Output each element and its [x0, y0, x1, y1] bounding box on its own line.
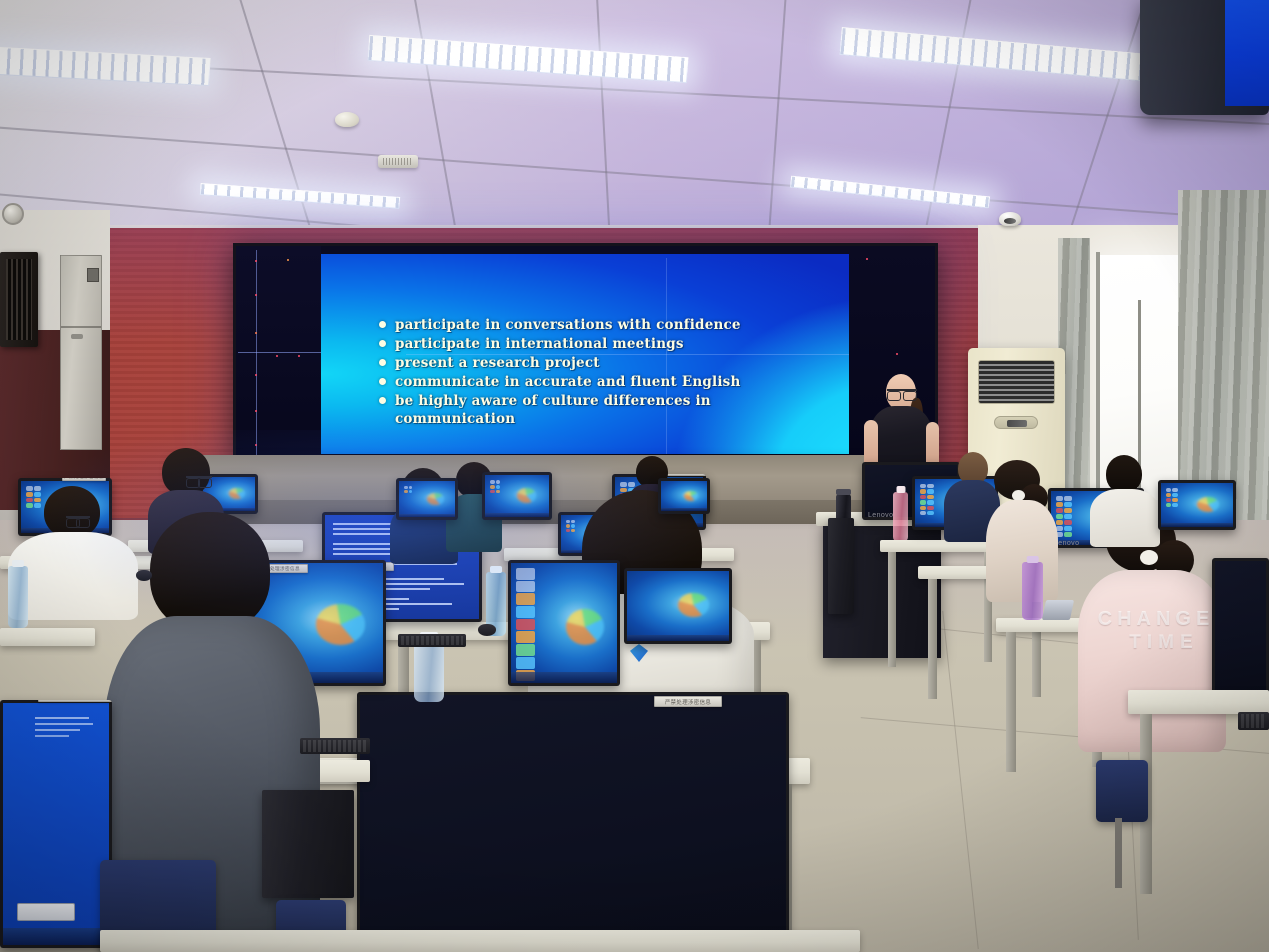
keyboard[interactable]: [1238, 712, 1269, 730]
student-monitor: [658, 478, 710, 514]
security-warning-label: 严禁处理涉密信息: [62, 478, 106, 481]
desk-leg: [928, 579, 937, 699]
student-screen: [1215, 561, 1266, 697]
ceiling-light-fixture: [790, 176, 990, 209]
ceiling-light-fixture: [367, 35, 688, 83]
student-monitor: [1158, 480, 1236, 530]
water-bottle: [1022, 562, 1043, 620]
glasses-icon: [66, 516, 90, 525]
ceiling-speaker: [378, 155, 418, 168]
student-screen: [1161, 483, 1233, 527]
ceiling-light-fixture: [200, 183, 400, 209]
slide-bullet: communicate in accurate and fluent Engli…: [379, 373, 809, 391]
student-far-right: [1090, 455, 1160, 547]
chair[interactable]: [1096, 760, 1148, 822]
curtain: [1178, 190, 1269, 520]
overhead-mounted-display: [1140, 0, 1269, 115]
wall-clock-icon: [2, 203, 24, 225]
security-warning-label: 严禁处理涉密信息: [654, 696, 722, 707]
student-monitor: Lenovo: [1212, 558, 1269, 700]
chair-post: [1115, 818, 1122, 888]
student-screen: [485, 475, 549, 517]
student-screen: [511, 563, 617, 683]
keyboard[interactable]: [398, 634, 466, 647]
led-video-wall: participate in conversations with confid…: [233, 243, 938, 461]
slide-bullet: participate in conversations with confid…: [379, 316, 809, 334]
foreground-screen: [360, 695, 786, 949]
screen-text-block: [35, 717, 103, 741]
desk-leg: [888, 552, 896, 667]
student-screen: [3, 703, 109, 945]
student-screen: [399, 481, 455, 517]
water-bottle: [893, 492, 908, 542]
wall-speaker: [0, 252, 38, 347]
presentation-slide: participate in conversations with confid…: [321, 254, 849, 454]
pc-tower: [262, 790, 354, 898]
mouse[interactable]: [136, 570, 152, 581]
pc-tower: [828, 518, 854, 614]
student-monitor: [482, 472, 552, 520]
slide-bullet: be highly aware of culture differences i…: [379, 392, 809, 428]
security-camera-icon: [999, 212, 1021, 226]
slide-bullet: participate in international meetings: [379, 335, 809, 353]
water-bottle: [8, 566, 28, 628]
student-monitor: [396, 478, 458, 520]
student-change-time: CHANGE TIME: [1078, 512, 1226, 752]
student-head: [150, 512, 270, 632]
desk-leg: [1006, 632, 1016, 772]
student-monitor: 严禁处理涉密信息: [0, 700, 112, 948]
desk: [100, 930, 860, 952]
glasses-icon: [887, 389, 917, 398]
ac-vent: [978, 360, 1055, 404]
desk: [1128, 690, 1269, 714]
scrunchie: [1140, 550, 1158, 565]
taskbar-popup: [17, 903, 75, 921]
slide-bullet-list: participate in conversations with confid…: [379, 316, 809, 429]
student-monitor: [624, 568, 732, 644]
electrical-cabinet: [60, 255, 102, 450]
smoke-detector-icon: [335, 112, 359, 127]
keyboard[interactable]: [300, 738, 370, 754]
water-bottle: [414, 640, 444, 702]
foreground-monitor: Lenovo 严禁处理涉密信息: [357, 692, 789, 952]
lenovo-brand: Lenovo: [868, 512, 893, 519]
mouse[interactable]: [478, 624, 496, 636]
phone-stand: [1042, 600, 1074, 620]
student-screen: [627, 571, 729, 641]
glasses-icon: [186, 476, 212, 485]
security-warning-label: 严禁处理涉密信息: [38, 700, 112, 702]
student-jacket: [1078, 570, 1226, 752]
desk: [0, 628, 95, 646]
classroom-photo: participate in conversations with confid…: [0, 0, 1269, 952]
jacket-text-line1: CHANGE: [1096, 608, 1216, 631]
student-screen: [661, 481, 707, 511]
student-monitor: [508, 560, 620, 686]
ceiling: [0, 0, 1269, 235]
ceiling-light-fixture: [0, 46, 211, 86]
ac-control-panel[interactable]: [994, 416, 1038, 429]
slide-bullet: present a research project: [379, 354, 809, 372]
jacket-text-line2: TIME: [1104, 632, 1224, 654]
